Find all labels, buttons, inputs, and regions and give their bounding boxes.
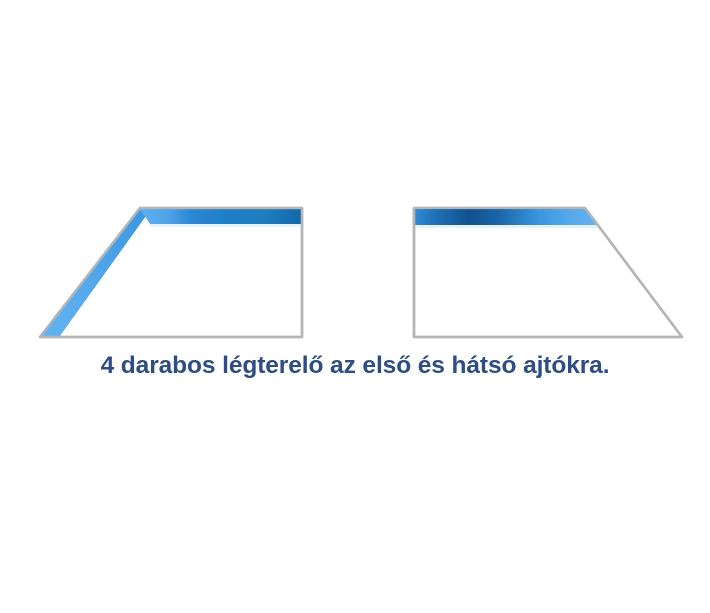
deflector-caption: 4 darabos légterelő az első és hátsó ajt… (0, 352, 710, 380)
rear-deflector-band-top (415, 209, 597, 225)
diagram-svg (0, 0, 710, 350)
rear-band-highlight (415, 225, 597, 228)
deflector-diagram (0, 0, 710, 350)
front-deflector-body (40, 208, 302, 337)
shape-front-door-deflector (40, 208, 302, 337)
shape-rear-door-deflector (414, 208, 682, 337)
front-band-highlight (150, 224, 302, 227)
front-deflector-band-top (140, 209, 302, 224)
page-root: 4 darabos légterelő az első és hátsó ajt… (0, 0, 710, 613)
